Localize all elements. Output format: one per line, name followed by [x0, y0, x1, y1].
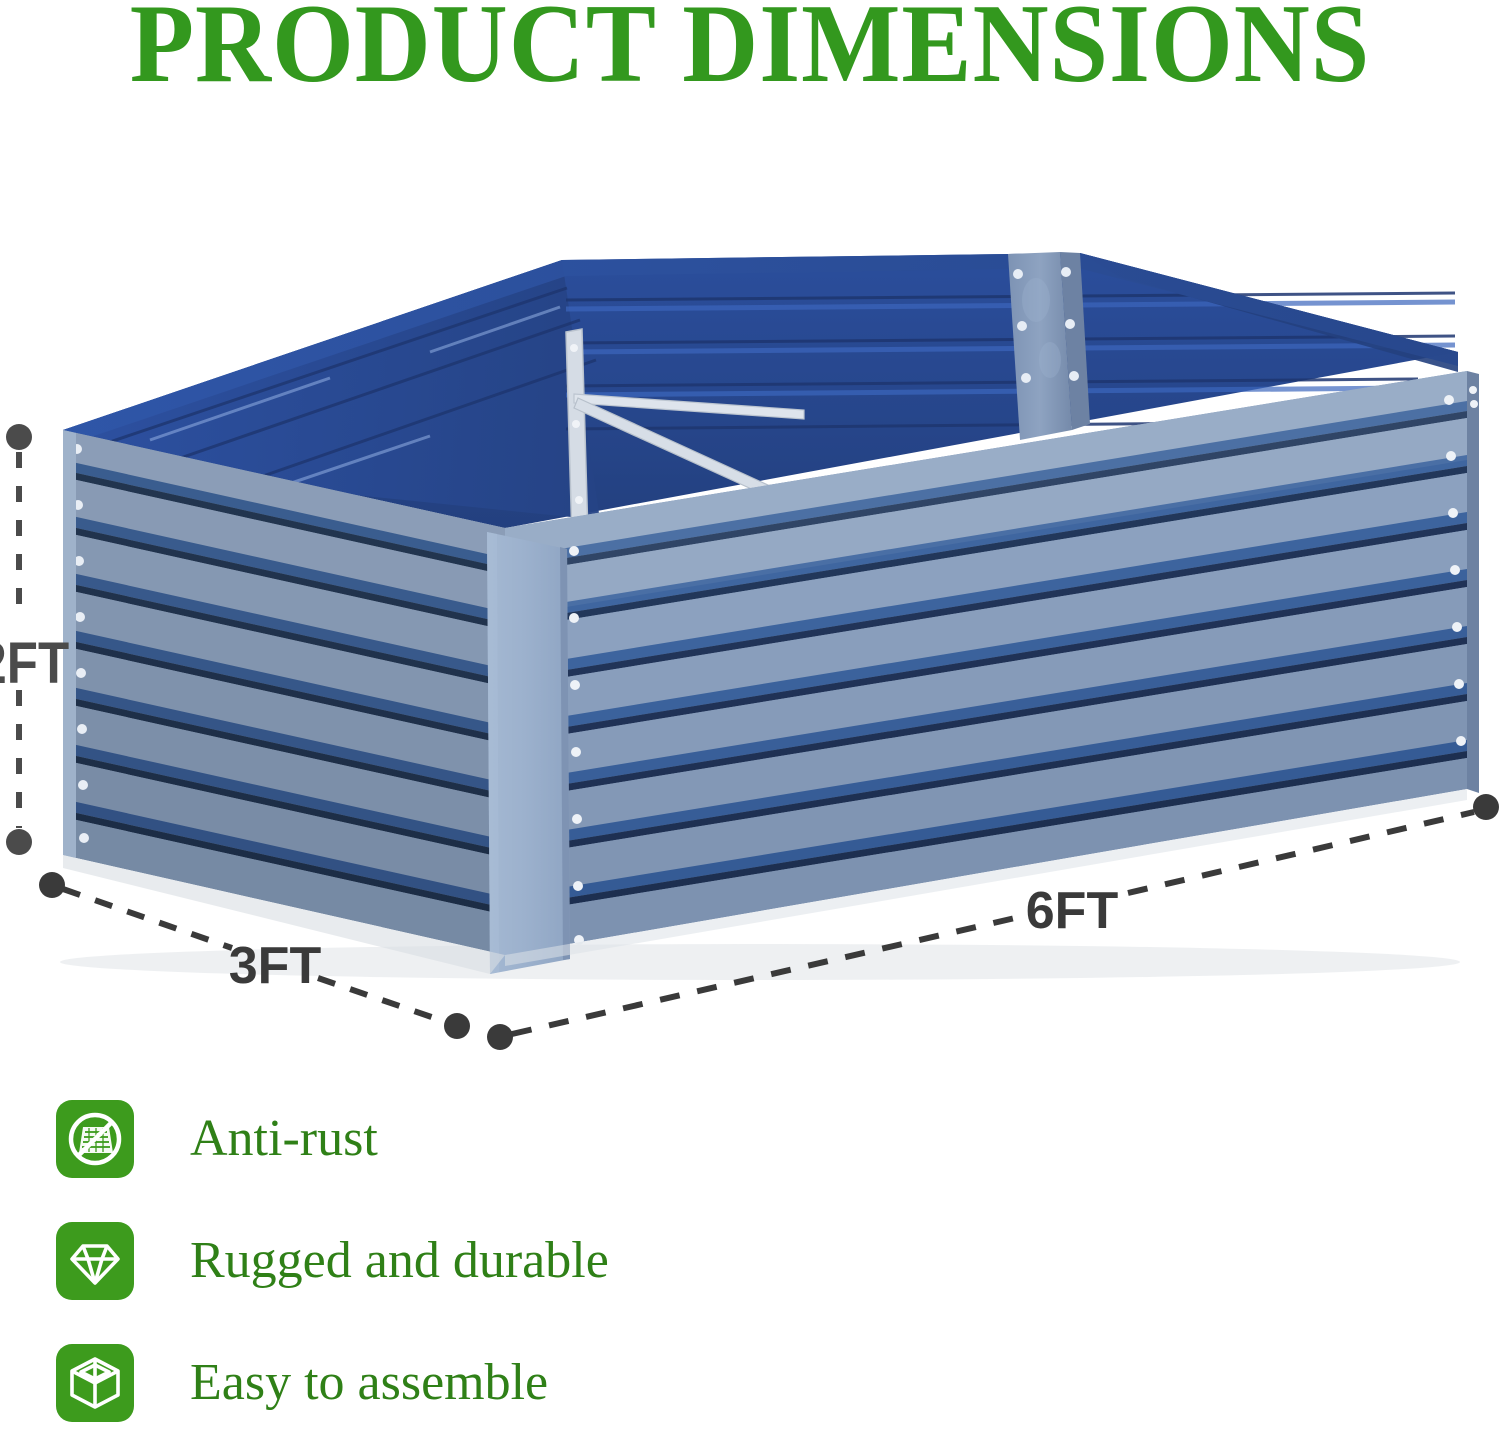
cube-box-icon [56, 1344, 134, 1422]
dim-depth-dot-end [444, 1013, 470, 1039]
right-edge-trim [1467, 371, 1479, 793]
feature-item-easy-assemble: Easy to assemble [56, 1322, 956, 1444]
feature-item-rugged: Rugged and durable [56, 1200, 956, 1322]
feature-item-anti-rust: Anti-rust [56, 1078, 956, 1200]
product-illustration: 2FT 3FT 6FT [0, 0, 1500, 1060]
dim-depth-dot-start [39, 872, 65, 898]
dim-depth-line-right [318, 978, 446, 1022]
dim-width-dot-start [487, 1024, 513, 1050]
diamond-icon [56, 1222, 134, 1300]
anti-rust-icon [56, 1100, 134, 1178]
feature-label-anti-rust: Anti-rust [190, 1113, 378, 1165]
dim-height-label: 2FT [0, 631, 69, 696]
dim-width-dot-end [1473, 794, 1499, 820]
feature-list: Anti-rust Rugged and durable [56, 1078, 956, 1444]
dim-width-label: 6FT [1026, 882, 1119, 940]
dim-depth-label: 3FT [229, 937, 322, 995]
back-corner-post [1008, 252, 1090, 440]
front-corner-post [487, 532, 570, 974]
feature-label-easy-assemble: Easy to assemble [190, 1357, 548, 1409]
dim-height-dot-bottom [6, 829, 32, 855]
feature-label-rugged: Rugged and durable [190, 1235, 609, 1287]
dim-height-dot-top [6, 424, 32, 450]
garden-bed-drawing: 2FT 3FT 6FT [0, 0, 1500, 1060]
